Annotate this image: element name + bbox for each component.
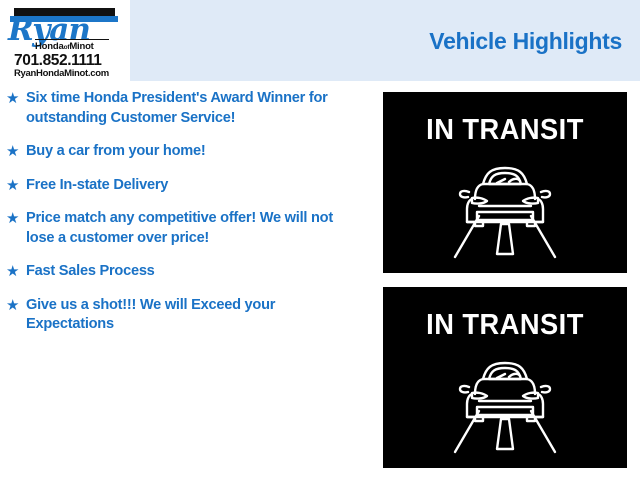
star-icon: ★ — [6, 176, 26, 196]
logo-subtitle: HondaofMinot — [35, 41, 109, 52]
in-transit-caption: IN TRANSIT — [390, 309, 619, 342]
in-transit-caption: IN TRANSIT — [390, 114, 619, 147]
star-icon: ★ — [6, 209, 26, 229]
logo-subtitle-rule: HondaofMinot — [35, 39, 109, 52]
dealer-website-link[interactable]: RyanHondaMinot.com — [14, 68, 109, 79]
vehicle-highlights-list: ★ Six time Honda President's Award Winne… — [0, 89, 372, 349]
list-item: ★ Free In-state Delivery — [0, 176, 372, 196]
list-item-label: Give us a shot!!! We will Exceed your Ex… — [26, 296, 372, 335]
star-icon: ★ — [6, 262, 26, 282]
vehicle-photo-1[interactable]: IN TRANSIT — [383, 92, 627, 273]
dealer-logo[interactable]: Ryan HondaofMinot 701.852.1111 RyanHonda… — [0, 0, 130, 81]
star-icon: ★ — [6, 296, 26, 316]
star-icon: ★ — [6, 142, 26, 162]
logo-subtitle-suffix: Minot — [69, 41, 93, 52]
list-item: ★ Fast Sales Process — [0, 262, 372, 282]
car-front-on-road-icon — [439, 154, 571, 265]
star-icon: ★ — [6, 89, 26, 109]
list-item: ★ Price match any competitive offer! We … — [0, 209, 372, 248]
list-item: ★ Six time Honda President's Award Winne… — [0, 89, 372, 128]
list-item: ★ Buy a car from your home! — [0, 142, 372, 162]
page-title: Vehicle Highlights — [429, 28, 622, 55]
list-item-label: Free In-state Delivery — [26, 176, 372, 196]
list-item-label: Six time Honda President's Award Winner … — [26, 89, 372, 128]
list-item-label: Buy a car from your home! — [26, 142, 372, 162]
list-item: ★ Give us a shot!!! We will Exceed your … — [0, 296, 372, 335]
list-item-label: Fast Sales Process — [26, 262, 372, 282]
car-front-on-road-icon — [439, 349, 571, 460]
list-item-label: Price match any competitive offer! We wi… — [26, 209, 372, 248]
logo-subtitle-prefix: Honda — [35, 41, 64, 52]
vehicle-photo-2[interactable]: IN TRANSIT — [383, 287, 627, 468]
